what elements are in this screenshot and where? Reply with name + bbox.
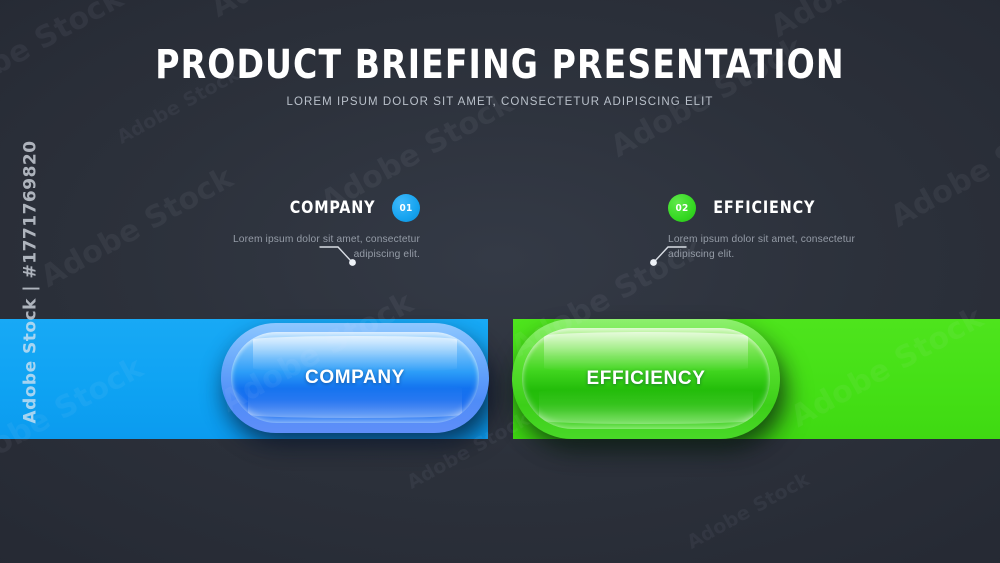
info-heading-row: COMPANY 01 <box>120 192 420 224</box>
bottom-lip-highlight <box>248 385 461 418</box>
watermark-text: Adobe Stock <box>683 468 813 553</box>
pill-button-efficiency[interactable]: EFFICIENCY <box>512 319 780 439</box>
pill-label-company: COMPANY <box>305 367 405 389</box>
slide-header: PRODUCT BRIEFING PRESENTATION LOREM IPSU… <box>0 42 1000 108</box>
slide-canvas: Adobe Stock Adobe Stock Adobe Stock Adob… <box>0 0 1000 563</box>
page-subtitle: LOREM IPSUM DOLOR SIT AMET, CONSECTETUR … <box>0 96 1000 108</box>
info-heading-row: 02 EFFICIENCY <box>668 192 968 224</box>
pill-inner-body: COMPANY <box>231 332 479 423</box>
info-title-efficiency: EFFICIENCY <box>713 198 815 218</box>
step-badge-01: 01 <box>392 194 420 222</box>
pill-label-efficiency: EFFICIENCY <box>587 368 706 390</box>
info-block-company: COMPANY 01 Lorem ipsum dolor sit amet, c… <box>120 192 420 262</box>
pill-button-company[interactable]: COMPANY <box>221 323 489 433</box>
pill-inner-body: EFFICIENCY <box>522 328 770 429</box>
gloss-highlight <box>544 332 747 372</box>
watermark-text: Adobe Stock <box>765 0 969 45</box>
info-title-company: COMPANY <box>290 198 376 218</box>
info-block-efficiency: 02 EFFICIENCY Lorem ipsum dolor sit amet… <box>668 192 968 262</box>
connector-line-left <box>318 238 364 272</box>
info-body-efficiency: Lorem ipsum dolor sit amet, consectetur … <box>668 233 858 262</box>
connector-line-right <box>642 238 688 272</box>
watermark-text: Adobe Stock <box>205 0 409 25</box>
bottom-lip-highlight <box>539 388 752 424</box>
page-title: PRODUCT BRIEFING PRESENTATION <box>40 42 960 88</box>
step-badge-02: 02 <box>668 194 696 222</box>
